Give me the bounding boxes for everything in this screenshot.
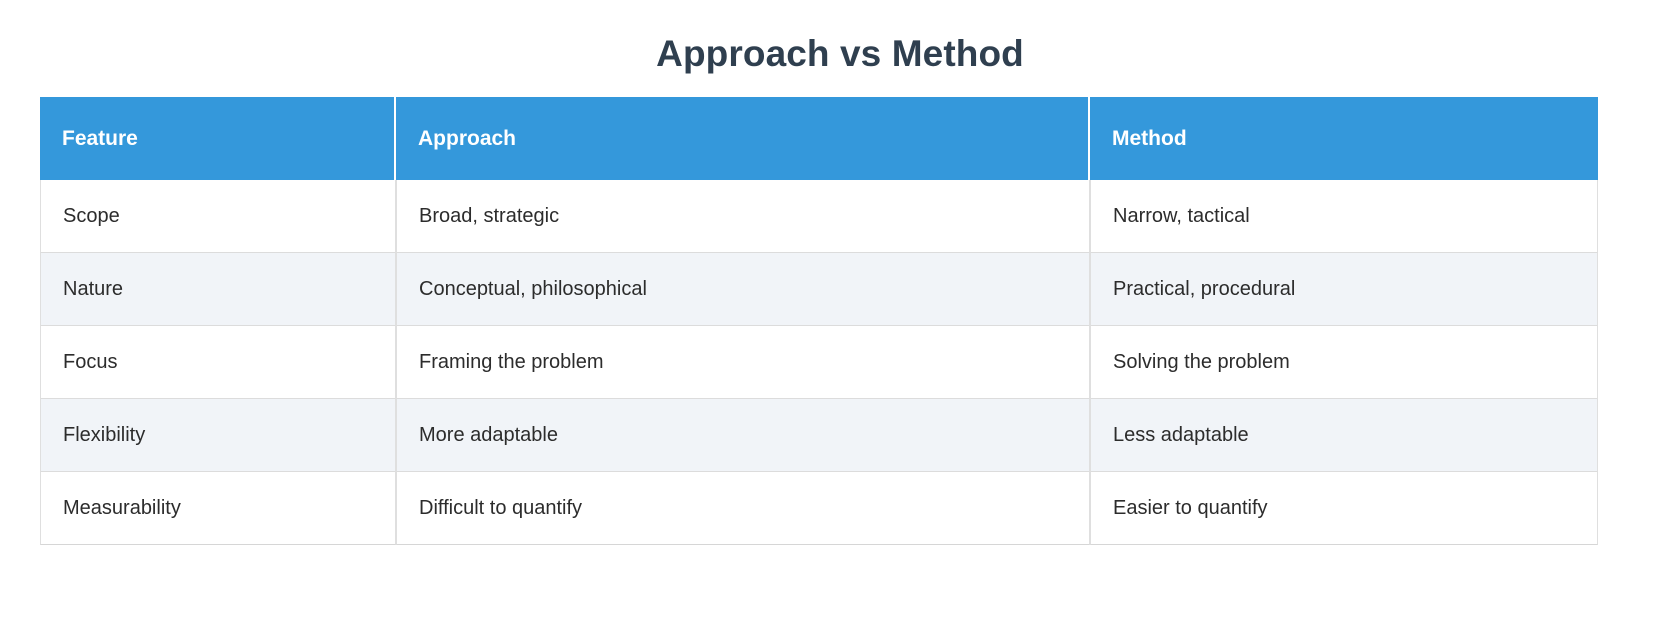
cell-method: Solving the problem (1090, 326, 1598, 399)
cell-method: Practical, procedural (1090, 253, 1598, 326)
page-title: Approach vs Method (0, 28, 1680, 80)
comparison-table-page: Approach vs Method Feature Approach Meth… (0, 0, 1680, 626)
comparison-table-container: Feature Approach Method Scope Broad, str… (40, 97, 1598, 545)
cell-approach: Difficult to quantify (396, 472, 1090, 545)
cell-feature: Measurability (40, 472, 396, 545)
table-row: Measurability Difficult to quantify Easi… (40, 472, 1598, 545)
table-row: Flexibility More adaptable Less adaptabl… (40, 399, 1598, 472)
cell-feature: Scope (40, 180, 396, 253)
table-row: Focus Framing the problem Solving the pr… (40, 326, 1598, 399)
column-header-approach[interactable]: Approach (396, 97, 1090, 180)
cell-approach: Framing the problem (396, 326, 1090, 399)
cell-feature: Nature (40, 253, 396, 326)
table-body: Scope Broad, strategic Narrow, tactical … (40, 180, 1598, 545)
cell-method: Less adaptable (1090, 399, 1598, 472)
cell-feature: Focus (40, 326, 396, 399)
cell-method: Easier to quantify (1090, 472, 1598, 545)
cell-approach: More adaptable (396, 399, 1090, 472)
table-header: Feature Approach Method (40, 97, 1598, 180)
table-row: Scope Broad, strategic Narrow, tactical (40, 180, 1598, 253)
column-header-method[interactable]: Method (1090, 97, 1598, 180)
approach-vs-method-table: Feature Approach Method Scope Broad, str… (40, 97, 1598, 545)
table-row: Nature Conceptual, philosophical Practic… (40, 253, 1598, 326)
column-header-feature[interactable]: Feature (40, 97, 396, 180)
table-header-row: Feature Approach Method (40, 97, 1598, 180)
cell-feature: Flexibility (40, 399, 396, 472)
cell-method: Narrow, tactical (1090, 180, 1598, 253)
cell-approach: Broad, strategic (396, 180, 1090, 253)
cell-approach: Conceptual, philosophical (396, 253, 1090, 326)
